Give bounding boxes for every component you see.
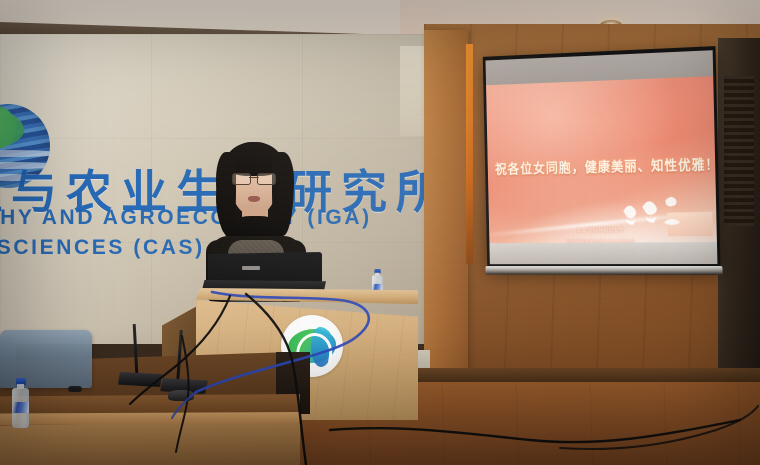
bottle-label [13, 402, 29, 413]
wood-pillar [424, 30, 468, 370]
water-bottle-front [12, 378, 29, 428]
slide-title-text: 祝各位女同胞，健康美丽、知性优雅！ [495, 153, 708, 178]
desk-phone [168, 390, 194, 401]
desk-front-panel [0, 422, 300, 465]
wall-vent-grille-icon [724, 76, 754, 226]
desk-small-object [68, 386, 82, 392]
speaker-glasses-icon [232, 173, 276, 183]
projection-screen: 祝各位女同胞，健康美丽、知性优雅！ 3.8 国际劳动妇女节 东北地理所第五届工会… [483, 46, 721, 268]
podium-top-surface [196, 288, 418, 304]
logo-leaf-shape [0, 109, 27, 153]
front-desk [0, 394, 300, 465]
microphone-base-left [118, 372, 162, 387]
wall-light-strip [466, 44, 473, 264]
laptop-badge [242, 266, 260, 270]
laptop-lid [208, 252, 322, 284]
wall-sign-english-line2: OF SCIENCES (CAS) [0, 236, 205, 260]
slide-canvas: 祝各位女同胞，健康美丽、知性优雅！ 3.8 国际劳动妇女节 东北地理所第五届工会… [486, 76, 717, 243]
screen-bottom-band [489, 242, 717, 264]
screen-weight-bar [485, 266, 722, 275]
speaker-mouth [248, 196, 260, 202]
glasses-lens-right [257, 173, 276, 185]
glasses-lens-left [232, 173, 251, 185]
presentation-photo-scene: 理与农业生态研究所 RAPHY AND AGROECOLOGY (IGA) OF… [0, 0, 760, 465]
